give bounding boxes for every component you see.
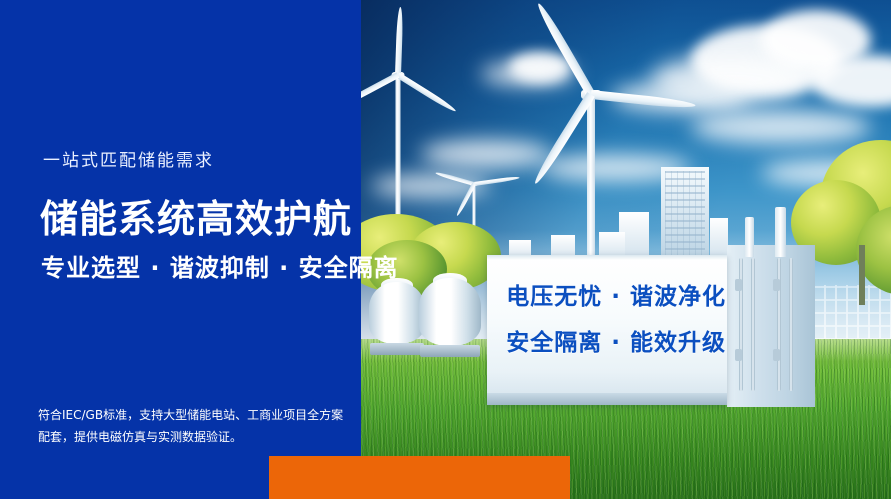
energy-storage-container: 电压无忧 · 谐波净化 安全隔离 · 能效升级	[487, 255, 727, 405]
accent-bar	[269, 456, 570, 499]
turbine-blade	[474, 176, 520, 186]
container-hinge	[735, 279, 742, 291]
panel-content: 一站式匹配储能需求 储能系统高效护航 专业选型 · 谐波抑制 · 安全隔离 符合…	[0, 0, 361, 499]
container-vent-stack	[775, 207, 786, 257]
page-title: 储能系统高效护航	[40, 188, 352, 243]
container-locking-bar	[751, 258, 755, 391]
tank-body	[369, 282, 425, 344]
container-hinge	[773, 279, 780, 291]
container-slogan: 电压无忧 · 谐波净化 安全隔离 · 能效升级	[506, 285, 712, 355]
description-text: 符合IEC/GB标准，支持大型储能电站、工商业项目全方案配套，提供电磁仿真与实测…	[38, 404, 346, 448]
turbine-blade	[395, 7, 403, 75]
cloud-icon	[421, 140, 551, 168]
hero-photo: 电压无忧 · 谐波净化 安全隔离 · 能效升级	[361, 0, 891, 499]
container-locking-bar	[789, 258, 793, 391]
container-slogan-line1: 电压无忧 · 谐波净化	[506, 285, 712, 309]
building-windows	[665, 171, 705, 257]
city-building	[661, 167, 709, 262]
container-vent-stack	[745, 217, 754, 257]
container-hinge	[773, 349, 780, 361]
container-locking-bar	[777, 258, 781, 391]
tank-legs	[370, 343, 424, 355]
container-hinge	[735, 349, 742, 361]
container-locking-bar	[739, 258, 743, 391]
tree-trunk	[859, 245, 865, 305]
container-door-face	[727, 245, 815, 407]
cloud-icon	[481, 62, 576, 86]
container-slogan-line2: 安全隔离 · 能效升级	[506, 331, 712, 355]
tank-legs	[420, 345, 480, 357]
subtitle-text: 专业选型 · 谐波抑制 · 安全隔离	[41, 248, 399, 283]
tank-body	[419, 278, 481, 346]
container-front-panel: 电压无忧 · 谐波净化 安全隔离 · 能效升级	[487, 255, 727, 405]
hero-banner: 电压无忧 · 谐波净化 安全隔离 · 能效升级 一站式匹配储能需求 储能系统高效…	[0, 0, 891, 499]
cloud-icon	[691, 110, 871, 144]
turbine-blade	[361, 72, 399, 109]
left-blue-panel: 一站式匹配储能需求 储能系统高效护航 专业选型 · 谐波抑制 · 安全隔离 符合…	[0, 0, 361, 499]
turbine-blade	[396, 72, 457, 113]
eyebrow-text: 一站式匹配储能需求	[43, 146, 214, 171]
storage-tank	[369, 282, 425, 344]
storage-tank	[419, 278, 481, 346]
